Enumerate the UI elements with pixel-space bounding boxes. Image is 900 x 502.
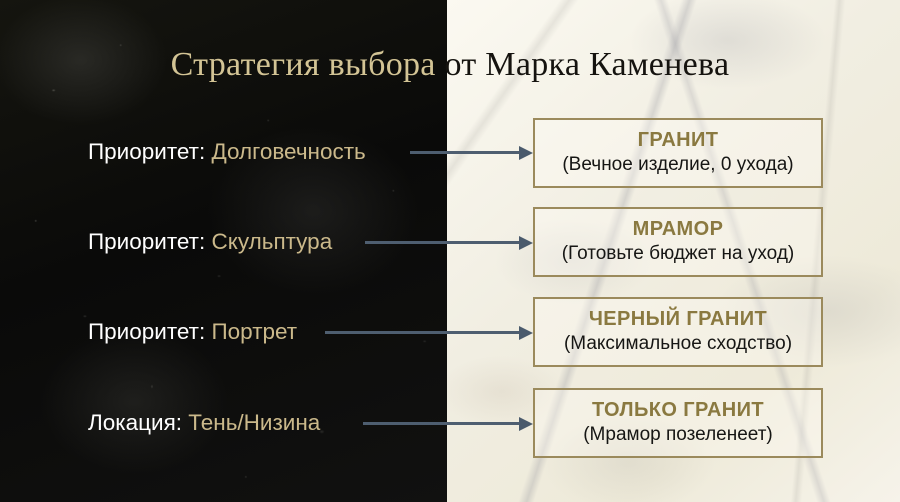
page-title-gold-part: Стратегия выбора [171,46,445,83]
result-title-3: ЧЕРНЫЙ ГРАНИТ [589,307,767,331]
criterion-key-3: Приоритет: [88,319,205,344]
criterion-key-1: Приоритет: [88,139,205,164]
connector-arrow-2 [365,235,533,251]
criterion-row-3: Приоритет: Портрет [88,317,297,347]
arrow-head-1 [519,146,533,160]
arrow-shaft-4 [363,422,521,425]
criterion-value-1: Долговечность [205,139,366,164]
arrow-shaft-2 [365,241,521,244]
criterion-row-2: Приоритет: Скульптура [88,227,332,257]
criterion-key-2: Приоритет: [88,229,205,254]
connector-arrow-1 [410,145,533,161]
result-box-3: ЧЕРНЫЙ ГРАНИТ (Максимальное сходство) [533,297,823,367]
connector-arrow-4 [363,416,533,432]
result-subtitle-2: (Готовьте бюджет на уход) [562,241,795,267]
result-title-2: МРАМОР [633,217,724,241]
connector-arrow-3 [325,325,533,341]
arrow-head-3 [519,326,533,340]
result-box-1: ГРАНИТ (Вечное изделие, 0 ухода) [533,118,823,188]
result-box-2: МРАМОР (Готовьте бюджет на уход) [533,207,823,277]
result-title-4: ТОЛЬКО ГРАНИТ [592,398,764,422]
criterion-value-4: Тень/Низина [182,410,320,435]
criterion-row-4: Локация: Тень/Низина [88,408,320,438]
page-title: Стратегия выбора от Марка Каменева [0,45,900,85]
criterion-key-4: Локация: [88,410,182,435]
arrow-head-4 [519,417,533,431]
page-title-dark-part: от Марка Каменева [445,46,730,83]
criterion-value-3: Портрет [205,319,297,344]
criterion-value-2: Скульптура [205,229,332,254]
criterion-row-1: Приоритет: Долговечность [88,137,366,167]
result-box-4: ТОЛЬКО ГРАНИТ (Мрамор позеленеет) [533,388,823,458]
infographic-slide: Стратегия выбора от Марка Каменева Приор… [0,0,900,502]
result-subtitle-4: (Мрамор позеленеет) [583,422,773,448]
result-title-1: ГРАНИТ [638,128,719,152]
arrow-shaft-1 [410,151,521,154]
result-subtitle-3: (Максимальное сходство) [564,331,792,357]
arrow-shaft-3 [325,331,521,334]
arrow-head-2 [519,236,533,250]
result-subtitle-1: (Вечное изделие, 0 ухода) [562,152,793,178]
